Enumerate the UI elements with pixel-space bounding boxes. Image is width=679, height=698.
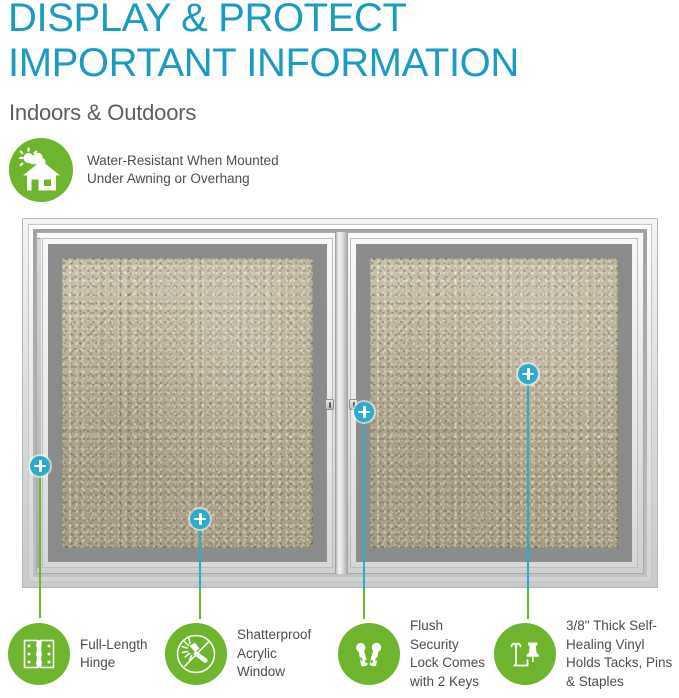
door-left-acrylic-lip [48,244,327,562]
callout-leader-vinyl [527,589,530,619]
feature-full-length-hinge-label: Full-Length Hinge [80,636,148,673]
feature-full-length-hinge: Full-Length Hinge [8,610,148,698]
board-door-left[interactable] [36,232,339,574]
water-resistant-text: Water-Resistant When Mounted Under Awnin… [87,152,279,188]
water-resistant-feature: Water-Resistant When Mounted Under Awnin… [9,138,279,202]
callout-pin-vinyl[interactable] [518,364,538,384]
feature-2-line-3: with 2 Keys [410,673,485,692]
shatterproof-hammer-icon [165,623,227,685]
feature-1-line-0: Shatterproof [237,626,311,645]
callout-leader-vinyl-upper [527,384,530,589]
callout-pin-acrylic[interactable] [190,509,210,529]
feature-2-line-0: Flush [410,617,485,636]
hinge-icon [8,623,70,685]
feature-2-line-2: Lock Comes [410,654,485,673]
door-right-acrylic-lip [356,244,632,562]
callout-pin-hinge[interactable] [30,456,50,476]
callout-leader-lock [363,589,366,619]
feature-security-lock: Flush Security Lock Comes with 2 Keys [338,610,485,698]
callout-leader-acrylic-upper [199,529,202,589]
water-resistant-line-1: Water-Resistant When Mounted [87,152,279,170]
center-stile [335,232,348,574]
page-title: DISPLAY & PROTECT IMPORTANT INFORMATION [8,0,668,86]
headline-line-1: DISPLAY & PROTECT [8,0,668,41]
feature-shatterproof-acrylic: Shatterproof Acrylic Window [165,610,311,698]
feature-security-lock-label: Flush Security Lock Comes with 2 Keys [410,617,485,691]
lock-cylinder-left[interactable] [325,399,334,410]
feature-3-line-1: Healing Vinyl [566,636,672,655]
callout-leader-lock-upper [363,422,366,589]
feature-3-line-0: 3/8" Thick Self- [566,617,672,636]
door-left-vinyl-surface [62,258,313,548]
house-sun-rain-icon [9,138,73,202]
keys-icon [338,623,400,685]
feature-1-line-2: Window [237,663,311,682]
feature-3-line-3: & Staples [566,673,672,692]
subtitle: Indoors & Outdoors [9,100,196,126]
door-right-vinyl-surface [370,258,618,548]
pushpin-staple-icon [494,623,556,685]
callout-leader-acrylic [199,589,202,619]
water-resistant-line-2: Under Awning or Overhang [87,170,279,188]
feature-shatterproof-acrylic-label: Shatterproof Acrylic Window [237,626,311,682]
callout-leader-hinge [39,476,42,618]
feature-2-line-1: Security [410,636,485,655]
feature-1-line-1: Acrylic [237,645,311,664]
feature-0-line-1: Hinge [80,654,148,673]
feature-self-healing-vinyl: 3/8" Thick Self- Healing Vinyl Holds Tac… [494,610,672,698]
headline-line-2: IMPORTANT INFORMATION [8,41,668,86]
feature-self-healing-vinyl-label: 3/8" Thick Self- Healing Vinyl Holds Tac… [566,617,672,691]
feature-3-line-2: Holds Tacks, Pins [566,654,672,673]
board-door-right[interactable] [344,232,644,574]
feature-0-line-0: Full-Length [80,636,148,655]
enclosed-bulletin-board [22,218,658,588]
callout-pin-lock[interactable] [354,402,374,422]
